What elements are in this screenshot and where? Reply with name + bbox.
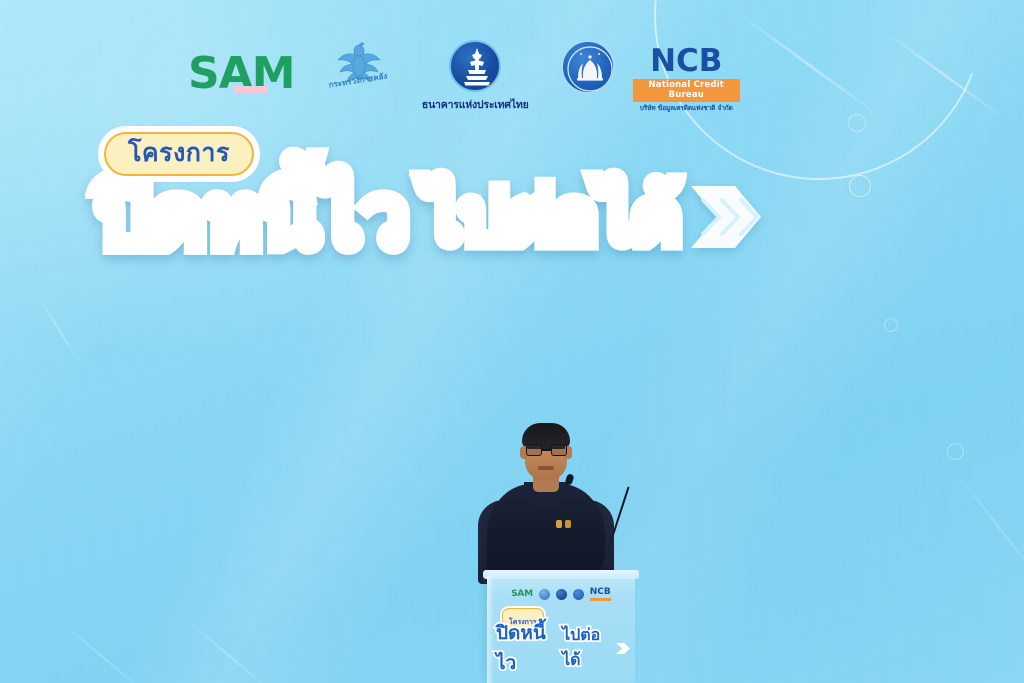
thai-bankers-association-seal-icon [561, 40, 615, 94]
partner-logo-row: SAM กระทรวงการคลัง [188, 38, 740, 112]
campaign-title: ปิดหนี้ไว ไปต่อได้ [96, 174, 775, 260]
headline-lockup: โครงการ ปิดหนี้ไว ไปต่อได้ [96, 132, 826, 302]
campaign-title-main: ปิดหนี้ไว [96, 174, 407, 260]
ncb-wordmark: NCB [633, 46, 740, 78]
chevron-arrows-icon [691, 184, 775, 250]
bank-of-thailand-seal-icon [449, 40, 501, 92]
backdrop-glow-bottom-right [404, 243, 1024, 683]
backdrop-ring-4 [884, 318, 898, 332]
logo-bank-of-thailand: ธนาคารแห่งประเทศไทย [408, 38, 543, 113]
logo-sam: SAM [188, 38, 310, 96]
backdrop-ring-2 [848, 114, 866, 132]
project-badge-label: โครงการ [128, 138, 230, 167]
ncb-band-label: National Credit Bureau [633, 79, 740, 102]
backdrop-ring-3 [947, 443, 964, 460]
backdrop-ring-1 [849, 175, 871, 197]
campaign-title-sub: ไปต่อได้ [423, 180, 679, 254]
garuda-emblem-icon: กระทรวงการคลัง [329, 42, 389, 98]
sam-accent-bar [234, 86, 268, 93]
project-badge: โครงการ [104, 132, 254, 176]
logo-ministry-of-finance: กระทรวงการคลัง [310, 38, 408, 98]
ncb-thai-subtitle: บริษัท ข้อมูลเครดิตแห่งชาติ จำกัด [633, 103, 740, 113]
logo-thai-bankers-association [543, 38, 633, 94]
logo-ncb: NCB National Credit Bureau บริษัท ข้อมูล… [633, 38, 740, 113]
bank-of-thailand-caption: ธนาคารแห่งประเทศไทย [408, 96, 543, 113]
